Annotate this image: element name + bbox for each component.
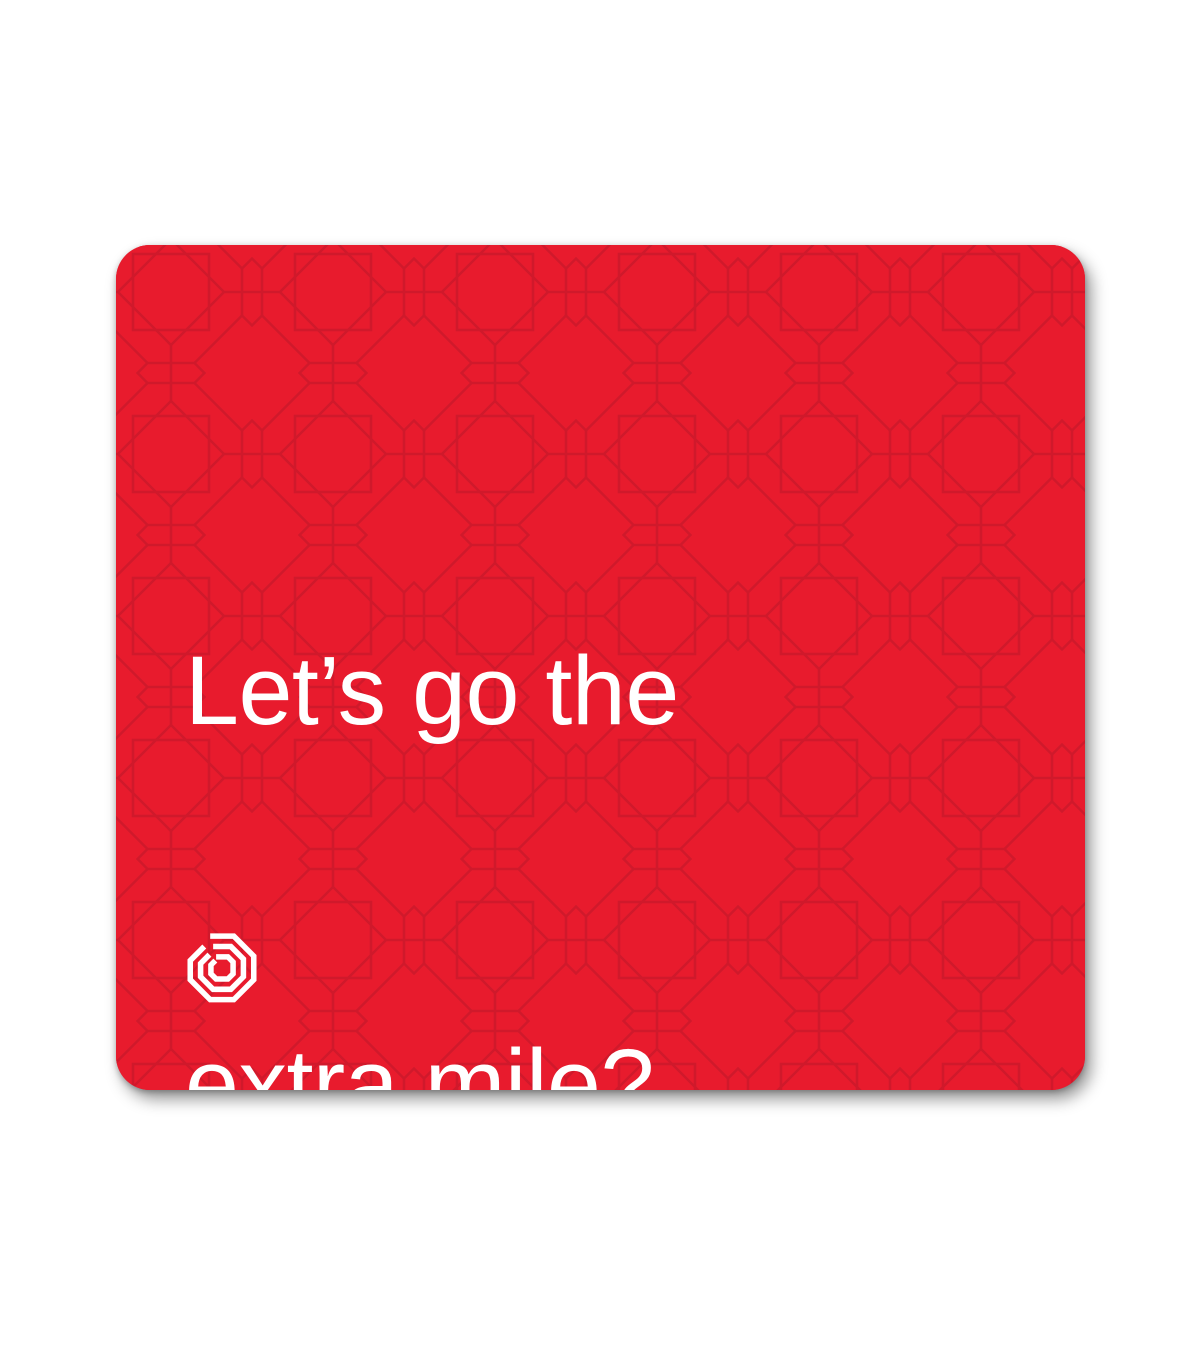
headline-text: Let’s go the extra mile? No, the extra h… — [185, 363, 1005, 1090]
headline-line-1: Let’s go the — [185, 625, 1005, 756]
bok-financial-logo — [185, 931, 259, 1010]
headline-line-2: extra mile? — [185, 1018, 1005, 1090]
promo-card: Let’s go the extra mile? No, the extra h… — [116, 245, 1085, 1090]
canvas: Let’s go the extra mile? No, the extra h… — [0, 0, 1200, 1346]
